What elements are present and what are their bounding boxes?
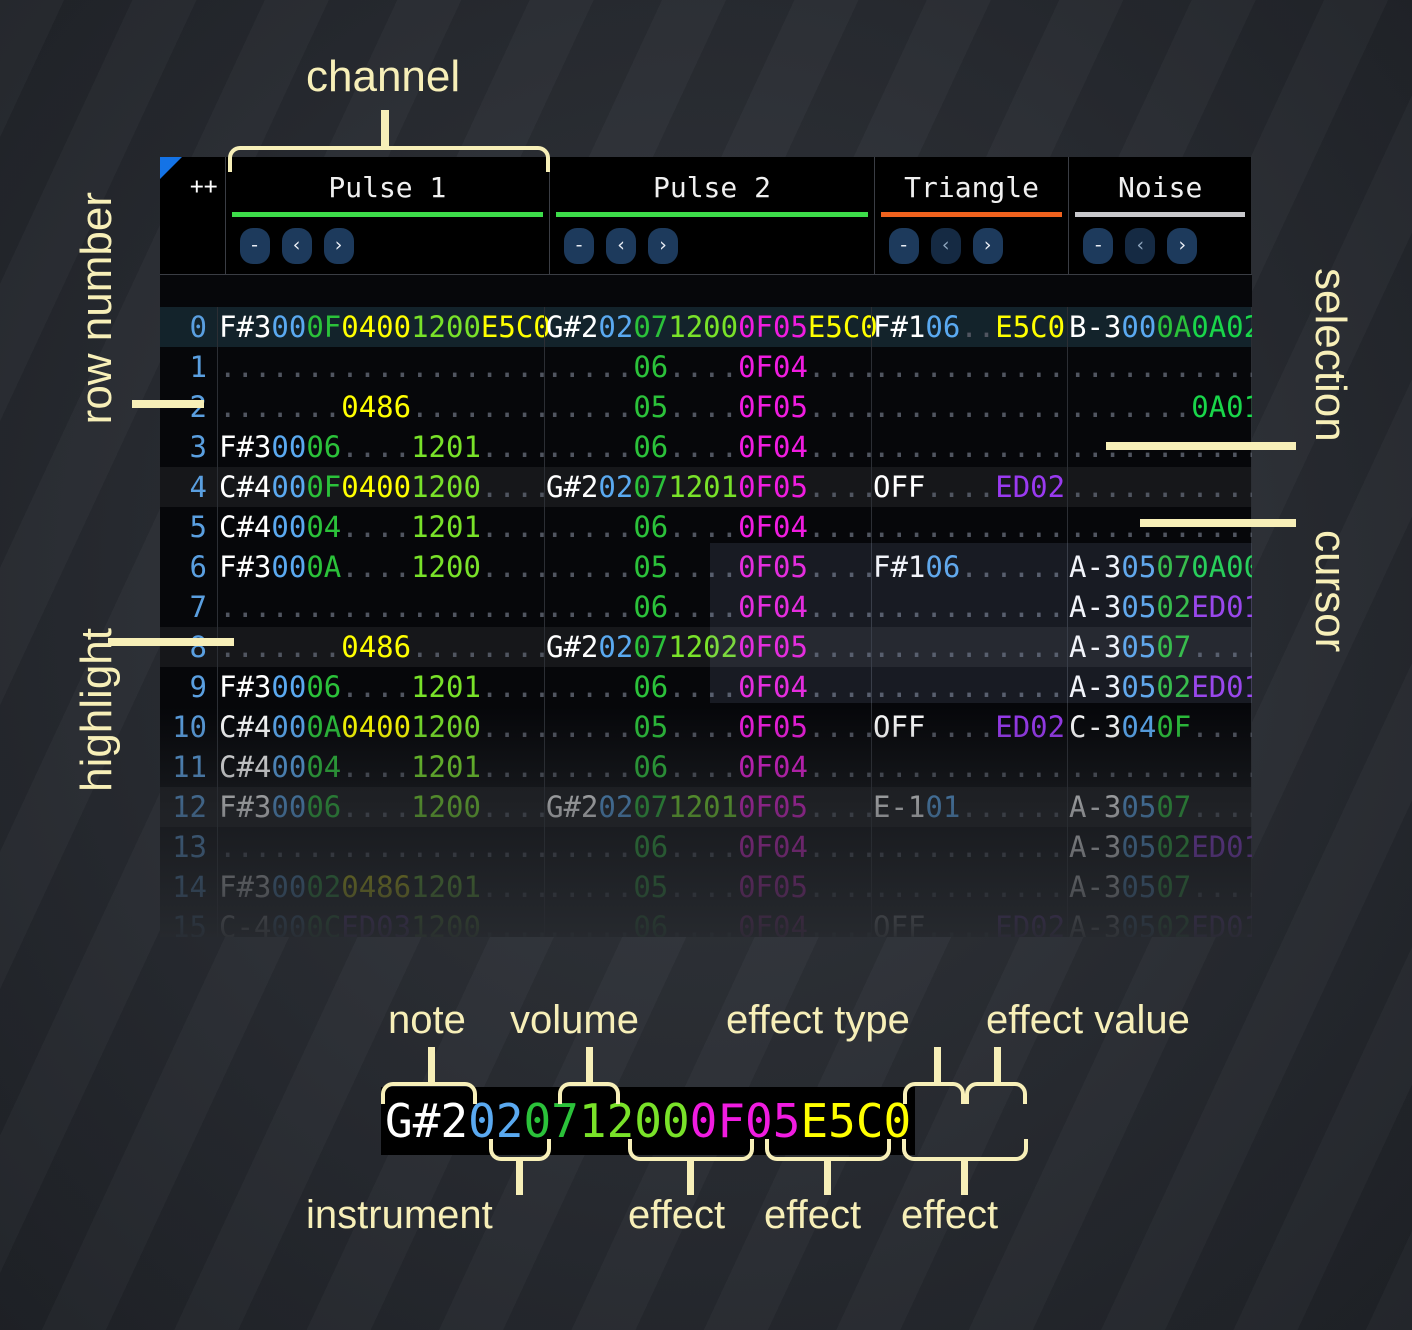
pattern-cell[interactable]: A-30507....: [1067, 627, 1252, 667]
pattern-cell[interactable]: C#4000F04001200....: [217, 467, 544, 507]
pattern-token: OFF: [873, 710, 925, 744]
pattern-cell[interactable]: .....06....0F04....: [544, 667, 871, 707]
pattern-token: ..: [925, 470, 960, 504]
pattern-token: 07: [1156, 550, 1191, 584]
pattern-row[interactable]: 5C#40004....1201.........06....0F04.....…: [160, 507, 1252, 547]
pattern-token: ..: [960, 510, 995, 544]
pattern-token: 00: [271, 790, 306, 824]
pattern-cell[interactable]: B-3000A0A02: [1067, 307, 1252, 347]
pattern-cell[interactable]: ...........: [871, 747, 1067, 787]
pattern-token: ....: [411, 590, 481, 624]
pattern-cell[interactable]: .......0A01: [1067, 387, 1252, 427]
pattern-cell[interactable]: A-305070A00: [1067, 547, 1252, 587]
channel-controls-triangle: - ‹ ›: [874, 217, 1069, 274]
pattern-token: E-1: [873, 790, 925, 824]
pattern-token: ...: [546, 350, 598, 384]
pattern-token: ..: [598, 750, 633, 784]
pattern-token: A-3: [1069, 590, 1121, 624]
row-number: 15: [160, 907, 217, 937]
pattern-token: ..: [925, 430, 960, 464]
pattern-token: 06: [925, 310, 960, 344]
pattern-token: ....: [481, 350, 551, 384]
pattern-token: ...: [873, 510, 925, 544]
pattern-token: ...: [219, 350, 271, 384]
pattern-token: G#2: [546, 310, 598, 344]
pattern-token: ...: [873, 670, 925, 704]
pattern-token: ..: [960, 910, 995, 937]
pattern-cell[interactable]: E-101......: [871, 787, 1067, 827]
pattern-token: ...: [1069, 390, 1121, 424]
pattern-token: 06: [925, 550, 960, 584]
pattern-token: 1201: [411, 870, 481, 904]
pattern-token: 05: [1121, 670, 1156, 704]
pattern-cell[interactable]: F#30006....1201....: [217, 427, 544, 467]
pattern-token: ....: [411, 630, 481, 664]
pattern-cell[interactable]: ...........: [871, 507, 1067, 547]
pattern-token: 00: [271, 310, 306, 344]
pattern-token: ....: [481, 550, 551, 584]
pattern-editor[interactable]: ++ Pulse 1 Pulse 2 Triangle Noise: [160, 157, 1252, 937]
pattern-cell[interactable]: ...........: [871, 427, 1067, 467]
pattern-cell[interactable]: F#30006....1200....: [217, 787, 544, 827]
pattern-token: ....: [411, 830, 481, 864]
pattern-token: ..: [925, 910, 960, 937]
pattern-token: OFF: [873, 910, 925, 937]
pattern-row[interactable]: 15C-4000CED031200.........06....0F04....…: [160, 907, 1252, 937]
pattern-token: ....: [1191, 710, 1252, 744]
pattern-cell[interactable]: .....06....0F04....: [544, 587, 871, 627]
pattern-cell[interactable]: ...........: [1067, 747, 1252, 787]
pattern-token: ..: [960, 710, 995, 744]
pattern-cell[interactable]: C-3040F....: [1067, 707, 1252, 747]
pattern-cell[interactable]: C-4000CED031200....: [217, 907, 544, 937]
pattern-row[interactable]: 0F#3000F04001200E5C0G#2020712000F05E5C0F…: [160, 307, 1252, 347]
pattern-token: C-3: [1069, 710, 1121, 744]
pattern-cell[interactable]: .....06....0F04....: [544, 827, 871, 867]
pattern-token: ....: [341, 750, 411, 784]
annotation-highlight: highlight: [72, 628, 122, 792]
pattern-token: 1200: [411, 710, 481, 744]
pattern-token: 1201: [668, 790, 738, 824]
pattern-row[interactable]: 13........................06....0F04....…: [160, 827, 1252, 867]
pattern-token: ..: [1156, 470, 1191, 504]
pattern-cell[interactable]: ...................: [217, 827, 544, 867]
pattern-cell[interactable]: ...........: [871, 347, 1067, 387]
pattern-row[interactable]: 7........................06....0F04.....…: [160, 587, 1252, 627]
pattern-token: ..: [1121, 390, 1156, 424]
pattern-token: ..: [925, 830, 960, 864]
pattern-token: 05: [633, 710, 668, 744]
pattern-cell[interactable]: ...........: [1067, 347, 1252, 387]
pattern-cell[interactable]: C#4000A04001200....: [217, 707, 544, 747]
pattern-token: ....: [341, 510, 411, 544]
channel-prev-button[interactable]: ‹: [606, 228, 636, 264]
pattern-cell[interactable]: ...........: [871, 867, 1067, 907]
pattern-token: ....: [995, 670, 1065, 704]
pattern-token: ....: [411, 390, 481, 424]
channel-mute-button[interactable]: -: [889, 228, 919, 264]
pattern-token: 00: [1121, 310, 1156, 344]
pattern-token: 05: [1121, 590, 1156, 624]
pattern-token: ...: [873, 630, 925, 664]
pattern-row[interactable]: 12F#30006....1200....G#2020712010F05....…: [160, 787, 1252, 827]
pattern-token: F#3: [219, 790, 271, 824]
pattern-token: ...: [546, 870, 598, 904]
pattern-token: ..: [1121, 750, 1156, 784]
pattern-token: ....: [668, 910, 738, 937]
row-number: 11: [160, 747, 217, 787]
pattern-token: 02: [1156, 830, 1191, 864]
pattern-cell[interactable]: G#2020712020F05....: [544, 627, 871, 667]
pattern-corner[interactable]: ++: [160, 157, 225, 217]
pattern-cell[interactable]: .....05....0F05....: [544, 387, 871, 427]
pattern-row[interactable]: 11C#40004....1201.........06....0F04....…: [160, 747, 1252, 787]
channel-accent-bar-0: [232, 212, 544, 217]
pattern-cell[interactable]: .....05....0F05....: [544, 707, 871, 747]
annotation-instrument: instrument: [306, 1193, 493, 1238]
pattern-cell[interactable]: F#3000F04001200E5C0: [217, 307, 544, 347]
channel-prev-button[interactable]: ‹: [282, 228, 312, 264]
annotation-effect-3: effect: [901, 1193, 998, 1238]
pattern-cell[interactable]: ...........: [871, 627, 1067, 667]
pattern-token: ...: [546, 590, 598, 624]
pattern-token: ...: [546, 510, 598, 544]
pattern-token: C#4: [219, 750, 271, 784]
pattern-token: ....: [808, 550, 878, 584]
pattern-token: 0F05: [738, 630, 808, 664]
pattern-token: 07: [633, 470, 668, 504]
pattern-token: ..: [960, 750, 995, 784]
pattern-cell[interactable]: G#2020712000F05E5C0: [544, 307, 871, 347]
pattern-token: ....: [995, 590, 1065, 624]
pattern-token: ...: [873, 750, 925, 784]
pattern-row[interactable]: 3F#30006....1201.........06....0F04.....…: [160, 427, 1252, 467]
pattern-cell[interactable]: ...........: [871, 387, 1067, 427]
pattern-token: ....: [481, 790, 551, 824]
pattern-cell[interactable]: A-30502ED01: [1067, 827, 1252, 867]
pattern-cell[interactable]: .....06....0F04....: [544, 907, 871, 937]
pattern-token: ....: [808, 790, 878, 824]
pattern-row[interactable]: 14F#3000204861201.........05....0F05....…: [160, 867, 1252, 907]
pattern-token: ..: [960, 310, 995, 344]
pattern-cell[interactable]: F#30006....1201....: [217, 667, 544, 707]
pattern-token: F#3: [219, 550, 271, 584]
controls-corner-spacer: [160, 217, 225, 274]
channel-name: Pulse 1: [328, 171, 446, 204]
bracket-volume: [558, 1082, 620, 1104]
pattern-token: 00: [271, 710, 306, 744]
pattern-token: ..: [925, 870, 960, 904]
pattern-token: ....: [808, 710, 878, 744]
pattern-token: 02: [1156, 670, 1191, 704]
pattern-cell[interactable]: C#40004....1201....: [217, 747, 544, 787]
pattern-cell[interactable]: .....06....0F04....: [544, 347, 871, 387]
pattern-row[interactable]: 9F#30006....1201.........06....0F04.....…: [160, 667, 1252, 707]
row-number: 14: [160, 867, 217, 907]
pattern-token: ....: [995, 350, 1065, 384]
pattern-token: 1201: [411, 430, 481, 464]
pattern-token: 06: [633, 590, 668, 624]
pattern-cell[interactable]: ...................: [217, 347, 544, 387]
pattern-token: ..: [306, 350, 341, 384]
pattern-token: ED02: [995, 470, 1065, 504]
pattern-token: F#3: [219, 430, 271, 464]
pattern-token: 02: [1156, 910, 1191, 937]
pattern-cell[interactable]: G#2020712010F05....: [544, 467, 871, 507]
pattern-token: ....: [808, 750, 878, 784]
pattern-token: ..: [271, 390, 306, 424]
bracket-instrument: [489, 1139, 551, 1161]
pattern-token: OFF: [873, 470, 925, 504]
pattern-token: ..: [598, 350, 633, 384]
pattern-token: ....: [668, 870, 738, 904]
leader-effect-2: [824, 1159, 831, 1195]
pattern-token: 0F04: [738, 590, 808, 624]
pattern-token: ....: [808, 470, 878, 504]
pattern-token: 0F05: [738, 710, 808, 744]
pattern-token: ....: [341, 430, 411, 464]
pattern-cell[interactable]: F#106..E5C0: [871, 307, 1067, 347]
pattern-token: ....: [808, 510, 878, 544]
pattern-token: 0A: [306, 710, 341, 744]
pattern-cell[interactable]: .....05....0F05....: [544, 867, 871, 907]
pattern-token: ....: [995, 830, 1065, 864]
pattern-token: 05: [1121, 790, 1156, 824]
channel-next-button[interactable]: ›: [1167, 228, 1197, 264]
pattern-token: ..: [598, 390, 633, 424]
pattern-token: ..: [598, 710, 633, 744]
pattern-cell[interactable]: ...........: [1067, 507, 1252, 547]
pattern-token: ....: [995, 390, 1065, 424]
bracket-effect-value: [965, 1082, 1027, 1104]
pattern-token: ED01: [1191, 910, 1252, 937]
pattern-token: ...: [546, 550, 598, 584]
pattern-token: 0A01: [1191, 390, 1252, 424]
pattern-cell[interactable]: .....05....0F05....: [544, 547, 871, 587]
pattern-token: 04: [306, 510, 341, 544]
pattern-token: 06: [633, 830, 668, 864]
channel-header-pulse-2[interactable]: Pulse 2: [549, 157, 874, 217]
pattern-cell[interactable]: A-30502ED01: [1067, 587, 1252, 627]
pattern-token: ....: [808, 390, 878, 424]
pattern-cell[interactable]: F#3000A....1200....: [217, 547, 544, 587]
pattern-token: ....: [1191, 790, 1252, 824]
channel-prev-button[interactable]: ‹: [1125, 228, 1155, 264]
pattern-token: ....: [995, 870, 1065, 904]
pattern-token: ....: [481, 670, 551, 704]
channel-next-button[interactable]: ›: [973, 228, 1003, 264]
pattern-token: 07: [633, 310, 668, 344]
pattern-token: ....: [995, 550, 1065, 584]
pattern-token: ....: [668, 590, 738, 624]
pattern-token: ..: [271, 630, 306, 664]
pattern-token: 0F04: [738, 430, 808, 464]
pattern-token: ....: [995, 790, 1065, 824]
pattern-token: ..: [1121, 470, 1156, 504]
channel-accent-bar-3: [1075, 212, 1245, 217]
leader-volume: [586, 1047, 593, 1083]
pattern-token: ..: [306, 390, 341, 424]
bracket-effect-1: [628, 1139, 754, 1161]
pattern-token: ..: [1121, 510, 1156, 544]
pattern-token: 02: [598, 470, 633, 504]
pattern-token: ..: [925, 390, 960, 424]
pattern-token: ..: [960, 470, 995, 504]
pattern-token: ..: [925, 710, 960, 744]
pattern-token: 00: [271, 430, 306, 464]
pattern-cell[interactable]: .....06....0F04....: [544, 747, 871, 787]
pattern-row[interactable]: 4C#4000F04001200....G#2020712010F05....O…: [160, 467, 1252, 507]
channel-accent-bar-1: [556, 212, 868, 217]
pattern-token: ....: [668, 390, 738, 424]
pattern-token: ....: [668, 550, 738, 584]
pattern-token: 02: [598, 630, 633, 664]
pattern-cell[interactable]: F#3000204861201....: [217, 867, 544, 907]
pattern-token: 00: [271, 670, 306, 704]
pattern-token: ....: [668, 350, 738, 384]
pattern-cell[interactable]: OFF....ED02: [871, 907, 1067, 937]
pattern-cell[interactable]: ...........: [1067, 467, 1252, 507]
channel-accent-bar-2: [881, 212, 1063, 217]
pattern-cell[interactable]: F#106......: [871, 547, 1067, 587]
leader-effect-3: [961, 1159, 968, 1195]
pattern-token: G#2: [546, 630, 598, 664]
pattern-token: ..: [925, 750, 960, 784]
pattern-token: 0F04: [738, 350, 808, 384]
pattern-token: ..: [271, 350, 306, 384]
pattern-cell[interactable]: G#2020712010F05....: [544, 787, 871, 827]
pattern-token: ...: [546, 750, 598, 784]
channel-prev-button[interactable]: ‹: [931, 228, 961, 264]
channel-next-button[interactable]: ›: [648, 228, 678, 264]
pattern-token: ....: [668, 510, 738, 544]
pattern-token: C#4: [219, 470, 271, 504]
pattern-cell[interactable]: A-30507....: [1067, 787, 1252, 827]
pattern-cell[interactable]: ...........: [871, 827, 1067, 867]
pattern-cell[interactable]: .......0486........: [217, 627, 544, 667]
channel-mute-button[interactable]: -: [1083, 228, 1113, 264]
pattern-token: ..: [960, 390, 995, 424]
pattern-cell[interactable]: .....06....0F04....: [544, 427, 871, 467]
channel-header-noise[interactable]: Noise: [1068, 157, 1252, 217]
pattern-token: 1200: [411, 550, 481, 584]
pattern-token: ....: [341, 590, 411, 624]
pattern-token: ....: [341, 670, 411, 704]
pattern-token: ..: [598, 910, 633, 937]
pattern-token: ..: [960, 790, 995, 824]
leader-highlight: [108, 638, 234, 646]
pattern-token: 1200: [411, 790, 481, 824]
pattern-row[interactable]: 1........................06....0F04.....…: [160, 347, 1252, 387]
pattern-token: ...: [219, 630, 271, 664]
pattern-token: 02: [306, 870, 341, 904]
pattern-token: 06: [306, 790, 341, 824]
pattern-row[interactable]: 10C#4000A04001200.........05....0F05....…: [160, 707, 1252, 747]
pattern-token: ....: [341, 550, 411, 584]
leader-effect-value: [994, 1047, 1001, 1083]
leader-row-number: [132, 400, 204, 408]
pattern-cell[interactable]: ...........: [871, 667, 1067, 707]
pattern-token: 0F: [1156, 710, 1191, 744]
pattern-token: ....: [481, 830, 551, 864]
pattern-cell[interactable]: OFF....ED02: [871, 467, 1067, 507]
pattern-row[interactable]: 8.......0486........G#2020712020F05.....…: [160, 627, 1252, 667]
pattern-token: 1202: [668, 630, 738, 664]
annotation-effect-type: effect type: [726, 998, 910, 1043]
pattern-token: 00: [271, 910, 306, 937]
pattern-token: 00: [271, 550, 306, 584]
pattern-cell[interactable]: A-30502ED01: [1067, 667, 1252, 707]
pattern-token: ...: [546, 390, 598, 424]
pattern-row[interactable]: 6F#3000A....1200.........05....0F05....F…: [160, 547, 1252, 587]
bracket-note: [381, 1082, 477, 1104]
pattern-token: ...: [219, 830, 271, 864]
pattern-token: ..: [960, 550, 995, 584]
pattern-token: ..: [306, 590, 341, 624]
bracket-effect-2: [765, 1139, 891, 1161]
pattern-cell[interactable]: .....06....0F04....: [544, 507, 871, 547]
channel-mute-button[interactable]: -: [564, 228, 594, 264]
pattern-token: 06: [633, 350, 668, 384]
leader-cursor: [1140, 519, 1296, 527]
pattern-token: ....: [1191, 870, 1252, 904]
pattern-cell[interactable]: .......0486........: [217, 387, 544, 427]
pattern-cell[interactable]: ...........: [871, 587, 1067, 627]
pattern-token: 0F05: [738, 790, 808, 824]
pattern-token: 0486: [341, 390, 411, 424]
pattern-token: ....: [668, 430, 738, 464]
pattern-token: 0F05: [738, 310, 808, 344]
pattern-token: ....: [668, 750, 738, 784]
channel-mute-button[interactable]: -: [240, 228, 270, 264]
pattern-token: ...: [546, 430, 598, 464]
pattern-token: ..: [271, 830, 306, 864]
pattern-token: 00: [271, 510, 306, 544]
channel-name: Triangle: [904, 171, 1039, 204]
pattern-token: ....: [808, 910, 878, 937]
pattern-row[interactable]: 2.......0486.............05....0F05.....…: [160, 387, 1252, 427]
pattern-token: 0A: [306, 550, 341, 584]
row-number: 9: [160, 667, 217, 707]
pattern-token: ..: [960, 350, 995, 384]
screenshot-root: ++ Pulse 1 Pulse 2 Triangle Noise: [0, 0, 1412, 1330]
pattern-token: 0400: [341, 470, 411, 504]
pattern-token: ....: [481, 590, 551, 624]
pattern-token: 02: [598, 790, 633, 824]
annotation-effect-2: effect: [764, 1193, 861, 1238]
pattern-cell[interactable]: ...................: [217, 587, 544, 627]
channel-next-button[interactable]: ›: [324, 228, 354, 264]
pattern-token: ....: [1191, 470, 1252, 504]
leader-effect-1: [687, 1159, 694, 1195]
pattern-token: 07: [633, 630, 668, 664]
channel-header-triangle[interactable]: Triangle: [874, 157, 1069, 217]
pattern-token: ..: [960, 590, 995, 624]
pattern-cell[interactable]: A-30507....: [1067, 867, 1252, 907]
pattern-token: ..: [598, 670, 633, 704]
channel-controls-row: - ‹ › - ‹ › - ‹ › - ‹ ›: [160, 217, 1252, 274]
pattern-token: 1200: [411, 470, 481, 504]
pattern-token: ....: [341, 350, 411, 384]
pattern-token: 07: [633, 790, 668, 824]
pattern-cell[interactable]: OFF....ED02: [871, 707, 1067, 747]
pattern-cell[interactable]: A-30502ED01: [1067, 907, 1252, 937]
pattern-cell[interactable]: C#40004....1201....: [217, 507, 544, 547]
annotation-cursor: cursor: [1305, 530, 1355, 652]
pattern-token: ....: [1191, 630, 1252, 664]
pattern-grid[interactable]: 0F#3000F04001200E5C0G#2020712000F05E5C0F…: [160, 275, 1252, 937]
pattern-token: A-3: [1069, 670, 1121, 704]
